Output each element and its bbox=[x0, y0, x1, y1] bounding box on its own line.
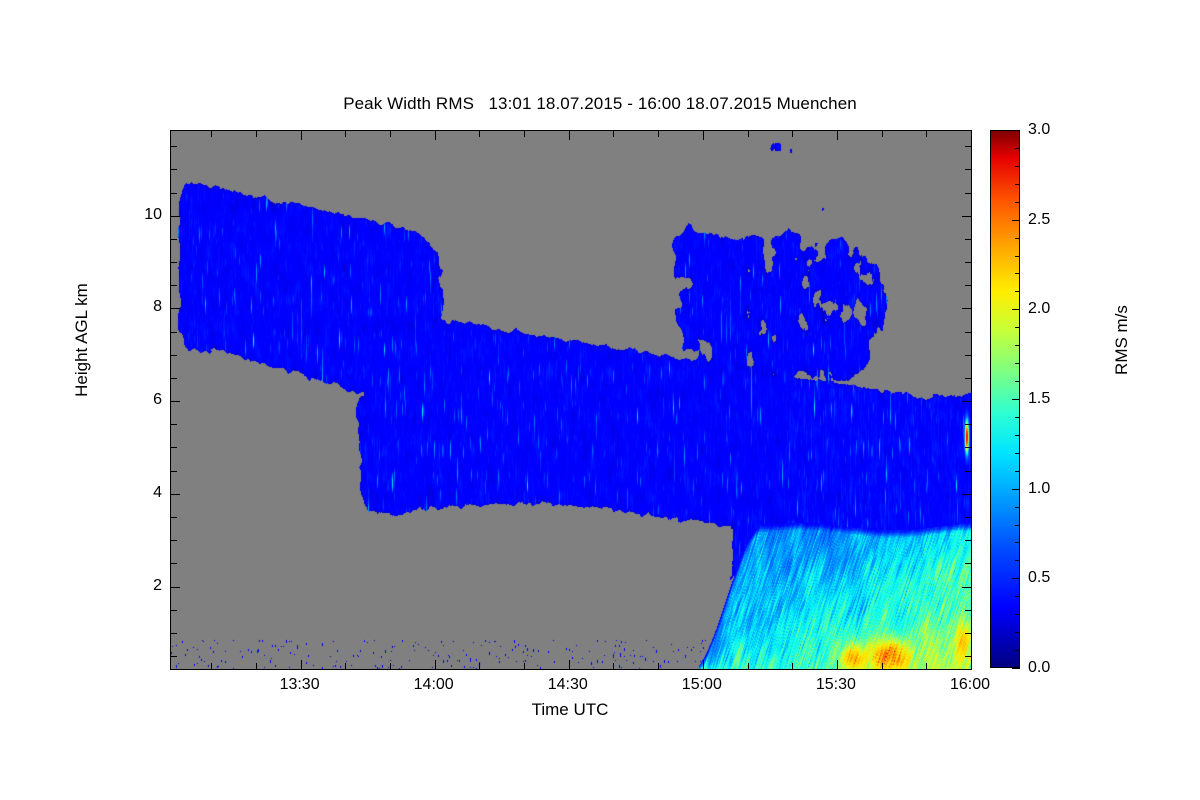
colorbar-minor-tick bbox=[1015, 471, 1020, 472]
y-axis-minor-tick bbox=[171, 355, 177, 356]
y-axis-minor-tick bbox=[171, 169, 177, 170]
colorbar-minor-tick bbox=[1015, 453, 1020, 454]
colorbar-tick-label: 2.0 bbox=[1028, 300, 1050, 318]
x-axis-tick bbox=[569, 131, 570, 140]
y-axis-tick bbox=[962, 401, 971, 402]
x-axis-tick bbox=[971, 131, 972, 140]
y-axis-minor-tick bbox=[171, 239, 177, 240]
colorbar-minor-tick bbox=[1015, 560, 1020, 561]
x-axis-minor-tick bbox=[792, 663, 793, 669]
x-axis-minor-tick bbox=[524, 663, 525, 669]
x-axis-label: Time UTC bbox=[170, 700, 970, 720]
x-axis-tick bbox=[301, 660, 302, 669]
colorbar-tick-label: 0.0 bbox=[1028, 659, 1050, 677]
y-axis-minor-tick bbox=[171, 471, 177, 472]
y-axis-tick bbox=[171, 494, 180, 495]
colorbar-minor-tick bbox=[1015, 256, 1020, 257]
x-axis-minor-tick bbox=[524, 131, 525, 137]
y-axis-minor-tick bbox=[965, 540, 971, 541]
colorbar-tick bbox=[1012, 578, 1020, 579]
y-axis-minor-tick bbox=[965, 517, 971, 518]
x-axis-tick-label: 14:00 bbox=[389, 676, 479, 694]
y-axis-minor-tick bbox=[965, 262, 971, 263]
x-axis-minor-tick bbox=[345, 663, 346, 669]
x-axis-minor-tick bbox=[658, 131, 659, 137]
x-axis-tick bbox=[703, 131, 704, 140]
y-axis-minor-tick bbox=[171, 656, 177, 657]
y-axis-minor-tick bbox=[965, 239, 971, 240]
x-axis-tick-label: 14:30 bbox=[523, 676, 613, 694]
colorbar-minor-tick bbox=[1015, 435, 1020, 436]
y-axis-minor-tick bbox=[965, 447, 971, 448]
colorbar-tick bbox=[1012, 399, 1020, 400]
colorbar-minor-tick bbox=[1015, 417, 1020, 418]
y-axis-minor-tick bbox=[171, 193, 177, 194]
x-axis-minor-tick bbox=[613, 663, 614, 669]
x-axis-minor-tick bbox=[479, 663, 480, 669]
y-axis-label: Height AGL km bbox=[72, 230, 92, 450]
x-axis-minor-tick bbox=[211, 663, 212, 669]
colorbar-minor-tick bbox=[1015, 363, 1020, 364]
y-axis-tick-label: 8 bbox=[122, 298, 162, 316]
colorbar-minor-tick bbox=[1015, 381, 1020, 382]
y-axis-minor-tick bbox=[965, 285, 971, 286]
x-axis-tick bbox=[301, 131, 302, 140]
y-axis-minor-tick bbox=[965, 424, 971, 425]
x-axis-tick bbox=[569, 660, 570, 669]
colorbar-minor-tick bbox=[1015, 184, 1020, 185]
y-axis-tick bbox=[962, 494, 971, 495]
colorbar[interactable]: 0.00.51.01.52.02.53.0 bbox=[990, 130, 1020, 668]
x-axis-minor-tick bbox=[479, 131, 480, 137]
y-axis-minor-tick bbox=[965, 146, 971, 147]
y-axis-minor-tick bbox=[171, 146, 177, 147]
y-axis-tick-label: 10 bbox=[122, 206, 162, 224]
x-axis-minor-tick bbox=[390, 663, 391, 669]
y-axis-minor-tick bbox=[965, 378, 971, 379]
x-axis-minor-tick bbox=[256, 663, 257, 669]
colorbar-minor-tick bbox=[1015, 291, 1020, 292]
figure-canvas: Peak Width RMS 13:01 18.07.2015 - 16:00 … bbox=[0, 0, 1200, 800]
colorbar-minor-tick bbox=[1015, 345, 1020, 346]
y-axis-minor-tick bbox=[965, 355, 971, 356]
y-axis-minor-tick bbox=[965, 193, 971, 194]
colorbar-minor-tick bbox=[1015, 632, 1020, 633]
colorbar-minor-tick bbox=[1015, 273, 1020, 274]
colorbar-tick-label: 2.5 bbox=[1028, 211, 1050, 229]
colorbar-minor-tick bbox=[1015, 614, 1020, 615]
y-axis-tick-label: 4 bbox=[122, 484, 162, 502]
colorbar-minor-tick bbox=[1015, 166, 1020, 167]
colorbar-minor-tick bbox=[1015, 148, 1020, 149]
y-axis-minor-tick bbox=[965, 633, 971, 634]
y-axis-minor-tick bbox=[171, 633, 177, 634]
colorbar-minor-tick bbox=[1015, 507, 1020, 508]
chart-title: Peak Width RMS 13:01 18.07.2015 - 16:00 … bbox=[0, 94, 1200, 114]
y-axis-tick-label: 6 bbox=[122, 391, 162, 409]
y-axis-minor-tick bbox=[171, 563, 177, 564]
y-axis-minor-tick bbox=[965, 169, 971, 170]
y-axis-tick-label: 2 bbox=[122, 577, 162, 595]
heatmap-image bbox=[171, 131, 971, 669]
x-axis-tick bbox=[435, 660, 436, 669]
y-axis-tick bbox=[962, 308, 971, 309]
y-axis-minor-tick bbox=[171, 540, 177, 541]
y-axis-minor-tick bbox=[171, 378, 177, 379]
x-axis-tick bbox=[435, 131, 436, 140]
colorbar-minor-tick bbox=[1015, 525, 1020, 526]
y-axis-minor-tick bbox=[171, 424, 177, 425]
colorbar-tick bbox=[1012, 668, 1020, 669]
x-axis-tick bbox=[703, 660, 704, 669]
y-axis-minor-tick bbox=[965, 471, 971, 472]
x-axis-minor-tick bbox=[613, 131, 614, 137]
y-axis-tick bbox=[171, 587, 180, 588]
colorbar-minor-tick bbox=[1015, 327, 1020, 328]
x-axis-minor-tick bbox=[211, 131, 212, 137]
x-axis-minor-tick bbox=[882, 131, 883, 137]
y-axis-minor-tick bbox=[965, 656, 971, 657]
colorbar-tick-label: 0.5 bbox=[1028, 569, 1050, 587]
x-axis-minor-tick bbox=[882, 663, 883, 669]
y-axis-minor-tick bbox=[171, 610, 177, 611]
x-axis-tick-label: 15:00 bbox=[657, 676, 747, 694]
colorbar-minor-tick bbox=[1015, 238, 1020, 239]
x-axis-minor-tick bbox=[792, 131, 793, 137]
x-axis-minor-tick bbox=[256, 131, 257, 137]
colorbar-tick-label: 3.0 bbox=[1028, 121, 1050, 139]
x-axis-minor-tick bbox=[345, 131, 346, 137]
y-axis-minor-tick bbox=[965, 563, 971, 564]
colorbar-tick-label: 1.5 bbox=[1028, 390, 1050, 408]
colorbar-tick-label: 1.0 bbox=[1028, 480, 1050, 498]
x-axis-tick-label: 16:00 bbox=[925, 676, 1015, 694]
colorbar-tick bbox=[1012, 130, 1020, 131]
y-axis-minor-tick bbox=[171, 332, 177, 333]
y-axis-tick bbox=[171, 308, 180, 309]
y-axis-tick bbox=[171, 216, 180, 217]
y-axis-minor-tick bbox=[965, 610, 971, 611]
x-axis-tick-label: 15:30 bbox=[791, 676, 881, 694]
y-axis-minor-tick bbox=[171, 447, 177, 448]
y-axis-minor-tick bbox=[171, 285, 177, 286]
colorbar-tick bbox=[1012, 489, 1020, 490]
y-axis-tick bbox=[962, 216, 971, 217]
x-axis-minor-tick bbox=[926, 663, 927, 669]
x-axis-tick bbox=[971, 660, 972, 669]
colorbar-label: RMS m/s bbox=[1112, 230, 1132, 450]
x-axis-minor-tick bbox=[748, 663, 749, 669]
colorbar-minor-tick bbox=[1015, 650, 1020, 651]
x-axis-minor-tick bbox=[390, 131, 391, 137]
plot-area[interactable] bbox=[170, 130, 972, 670]
x-axis-minor-tick bbox=[748, 131, 749, 137]
x-axis-minor-tick bbox=[926, 131, 927, 137]
x-axis-tick bbox=[837, 660, 838, 669]
y-axis-tick bbox=[962, 587, 971, 588]
y-axis-minor-tick bbox=[171, 517, 177, 518]
y-axis-tick bbox=[171, 401, 180, 402]
colorbar-minor-tick bbox=[1015, 202, 1020, 203]
x-axis-minor-tick bbox=[658, 663, 659, 669]
x-axis-tick bbox=[837, 131, 838, 140]
colorbar-minor-tick bbox=[1015, 596, 1020, 597]
y-axis-minor-tick bbox=[965, 332, 971, 333]
colorbar-minor-tick bbox=[1015, 542, 1020, 543]
y-axis-minor-tick bbox=[171, 262, 177, 263]
x-axis-tick-label: 13:30 bbox=[255, 676, 345, 694]
colorbar-tick bbox=[1012, 220, 1020, 221]
colorbar-tick bbox=[1012, 309, 1020, 310]
